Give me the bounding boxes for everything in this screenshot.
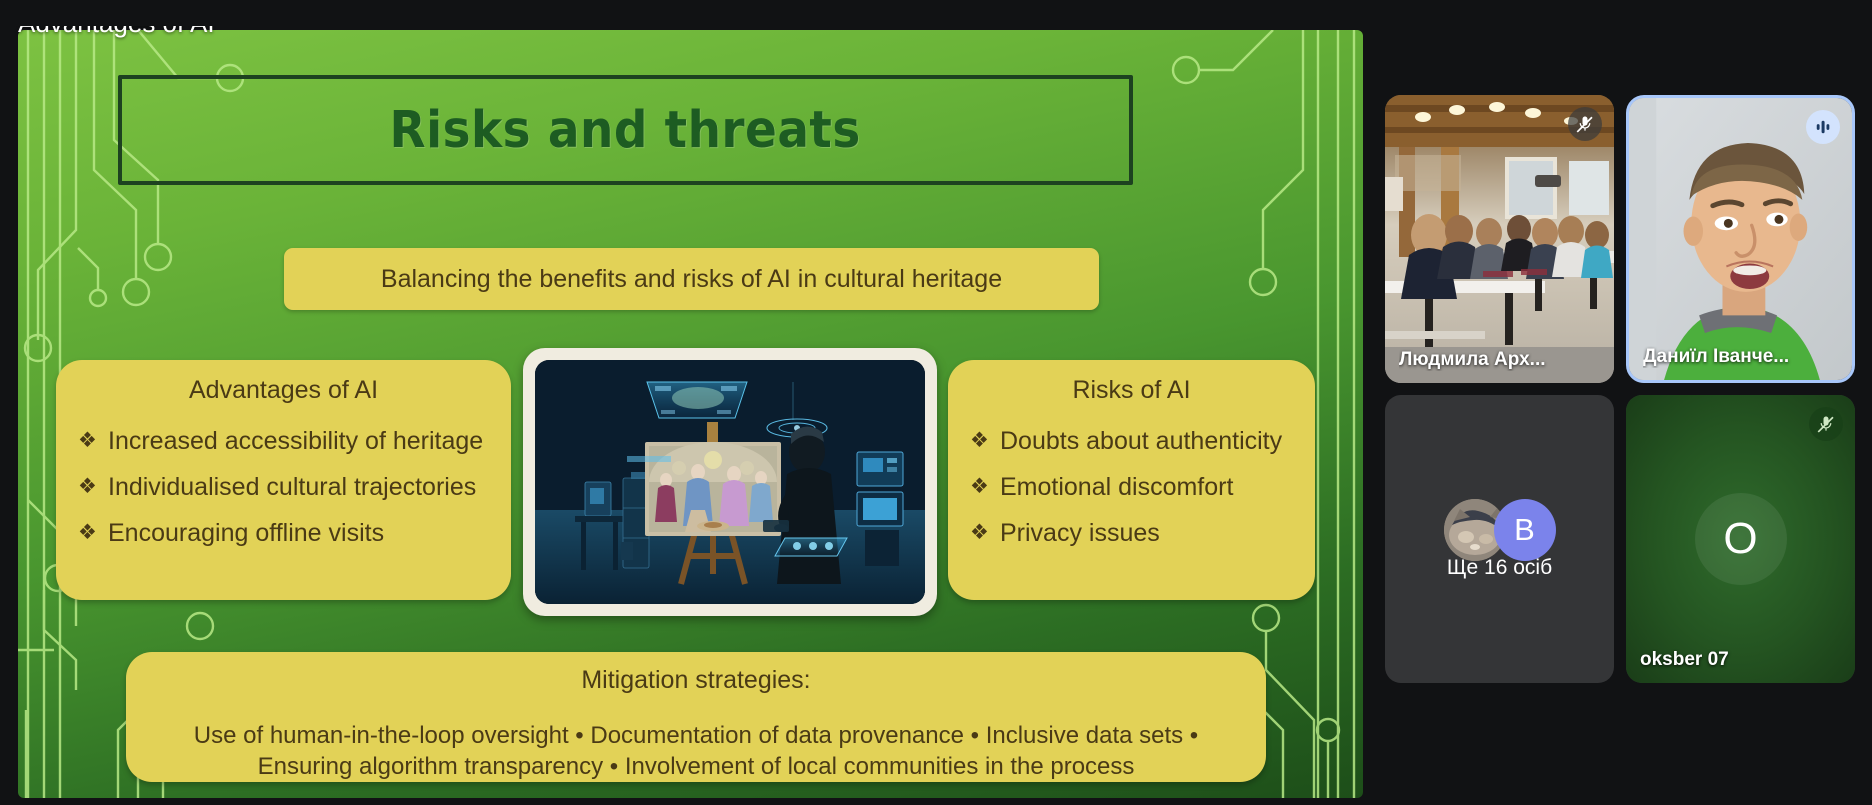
slide-title: Risks and threats [390,101,861,160]
list-item: ❖ Encouraging offline visits [78,519,489,548]
card-mitigation-heading: Mitigation strategies: [152,666,1240,695]
shared-slide-stage[interactable]: Risks and threats Balancing the benefits… [18,30,1363,798]
list-item: ❖ Increased accessibility of heritage [78,427,489,456]
bullet-text: Individualised cultural trajectories [108,473,476,502]
participant-tile-lyudmyla[interactable]: Людмила Арх... [1385,95,1614,383]
list-item: ❖ Doubts about authenticity [970,427,1293,456]
diamond-bullet-icon: ❖ [78,519,108,546]
participant-tile-oksber07[interactable]: O oksber 07 [1626,395,1855,683]
bullet-text: Increased accessibility of heritage [108,427,483,456]
card-advantages-heading: Advantages of AI [78,376,489,405]
avatar-initial: В [1494,499,1556,561]
window-top-bar [0,0,1872,26]
bullet-text: Privacy issues [1000,519,1160,548]
bullet-text: Emotional discomfort [1000,473,1233,502]
participant-tile-danyil[interactable]: Даниїл Іванче... [1626,95,1855,383]
participant-tile-more-people[interactable]: В Ще 16 осіб [1385,395,1614,683]
more-people-label: Ще 16 осіб [1385,556,1614,580]
slide-subtitle-banner: Balancing the benefits and risks of AI i… [284,248,1099,310]
card-advantages-of-ai: Advantages of AI ❖ Increased accessibili… [56,360,511,600]
card-mitigation-strategies: Mitigation strategies: Use of human-in-t… [126,652,1266,782]
speaking-waveform-icon [1806,110,1840,144]
microphone-muted-icon [1809,407,1843,441]
list-item: ❖ Privacy issues [970,519,1293,548]
card-risks-of-ai: Risks of AI ❖ Doubts about authenticity … [948,360,1315,600]
bullet-text: Encouraging offline visits [108,519,384,548]
meeting-screenshare-window: Risks and threats Balancing the benefits… [0,0,1872,805]
participant-name: Даниїл Іванче... [1643,346,1842,368]
diamond-bullet-icon: ❖ [970,519,1000,546]
participant-name: Людмила Арх... [1399,349,1604,371]
microphone-muted-icon [1568,107,1602,141]
list-item: ❖ Emotional discomfort [970,473,1293,502]
avatar-group: В [1444,499,1556,561]
diamond-bullet-icon: ❖ [78,427,108,454]
card-advantages-bullet-list: ❖ Increased accessibility of heritage ❖ … [78,427,489,547]
card-risks-heading: Risks of AI [970,376,1293,405]
slide-illustration-frame [523,348,937,616]
list-item: ❖ Individualised cultural trajectories [78,473,489,502]
card-risks-bullet-list: ❖ Doubts about authenticity ❖ Emotional … [970,427,1293,547]
slide-title-frame: Risks and threats [118,75,1133,185]
slide-subtitle: Balancing the benefits and risks of AI i… [381,265,1002,294]
card-mitigation-line-1: Use of human-in-the-loop oversight • Doc… [152,721,1240,752]
diamond-bullet-icon: ❖ [970,473,1000,500]
avatar-initial: O [1695,493,1787,585]
diamond-bullet-icon: ❖ [78,473,108,500]
card-mitigation-line-2: Ensuring algorithm transparency • Involv… [152,752,1240,783]
participant-rail: Людмила Арх... [1385,95,1855,683]
participant-name: oksber 07 [1640,649,1845,671]
bullet-text: Doubts about authenticity [1000,427,1282,456]
slide-illustration [535,360,925,604]
diamond-bullet-icon: ❖ [970,427,1000,454]
slide-content: Risks and threats Balancing the benefits… [18,30,1363,798]
